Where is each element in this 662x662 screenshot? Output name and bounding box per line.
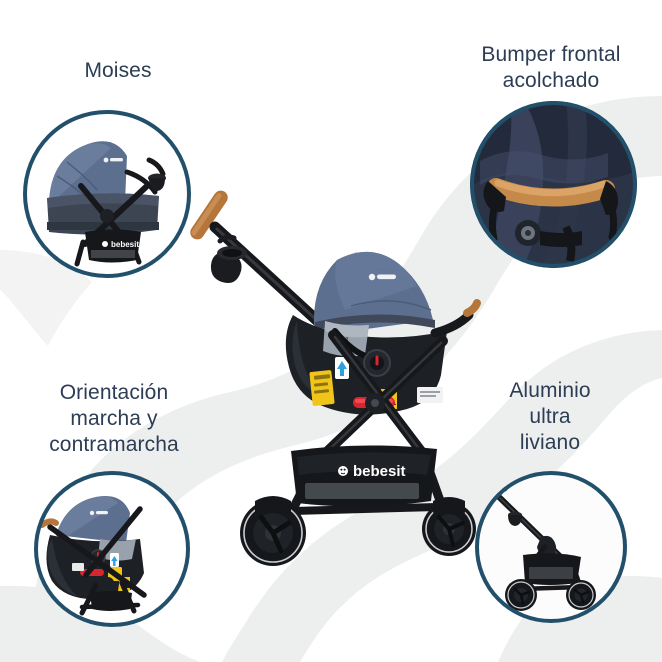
feature-caption-aluminio: Aluminio ultra liviano bbox=[444, 378, 656, 456]
infographic-canvas: 1 bbox=[0, 0, 662, 662]
chassis-icon bbox=[475, 471, 627, 623]
feature-photo-bumper[interactable] bbox=[470, 101, 637, 268]
bumper-bar-icon bbox=[470, 101, 637, 268]
feature-caption-bumper: Bumper frontal acolchado bbox=[440, 42, 662, 94]
main-product-photo: 1 bbox=[185, 165, 485, 565]
feature-caption-moises: Moises bbox=[8, 58, 228, 84]
svg-text:bebesit: bebesit bbox=[111, 240, 139, 249]
feature-photo-orientacion[interactable] bbox=[34, 471, 190, 627]
carrycot-icon: bebesit bbox=[23, 110, 191, 278]
car-seat-icon bbox=[34, 471, 190, 627]
feature-photo-moises[interactable]: bebesit bbox=[23, 110, 191, 278]
feature-photo-aluminio[interactable] bbox=[475, 471, 627, 623]
feature-caption-orientacion: Orientación marcha y contramarcha bbox=[8, 380, 220, 458]
svg-text:bebesit: bebesit bbox=[353, 463, 406, 480]
